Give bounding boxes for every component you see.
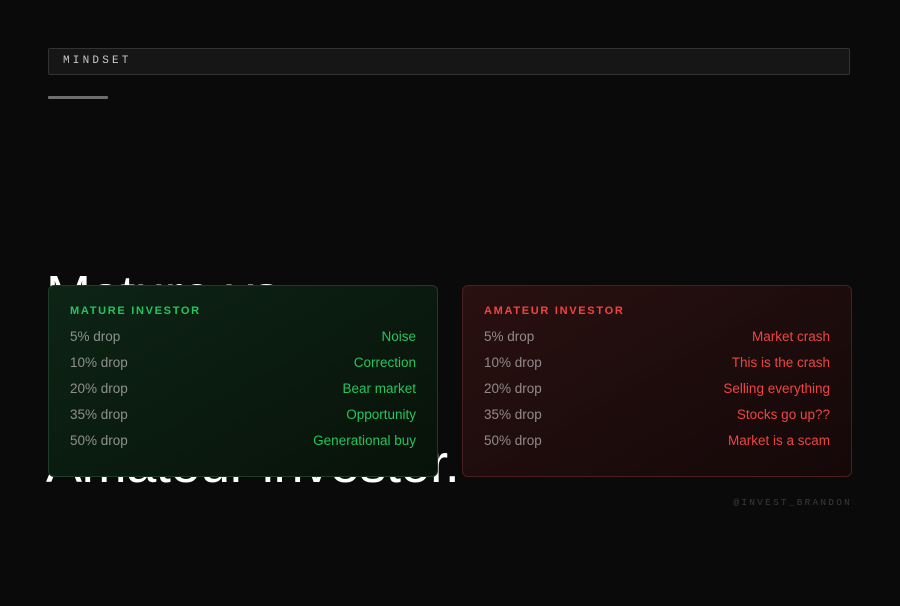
title-divider-rule [48,96,108,99]
row-value: Market is a scam [728,434,830,448]
table-row: 5% drop Market crash [484,330,830,356]
row-label: 10% drop [484,356,542,370]
row-value: Stocks go up?? [737,408,830,422]
table-row: 20% drop Selling everything [484,382,830,408]
row-label: 5% drop [484,330,534,344]
watermark-handle: @INVEST_BRANDON [733,497,852,508]
row-value: Noise [381,330,416,344]
row-label: 50% drop [484,434,542,448]
row-value: Bear market [342,382,416,396]
comparison-cards: MATURE INVESTOR 5% drop Noise 10% drop C… [48,285,852,477]
slide-canvas: MINDSET Mature vs Amateur investor. MATU… [0,0,900,528]
row-value: Opportunity [346,408,416,422]
table-row: 20% drop Bear market [70,382,416,408]
row-value: Correction [354,356,416,370]
card-title-amateur: AMATEUR INVESTOR [484,306,830,317]
row-label: 5% drop [70,330,120,344]
card-mature-investor: MATURE INVESTOR 5% drop Noise 10% drop C… [48,285,438,477]
card-rows-mature: 5% drop Noise 10% drop Correction 20% dr… [70,330,416,460]
row-label: 10% drop [70,356,128,370]
row-value: Generational buy [313,434,416,448]
card-rows-amateur: 5% drop Market crash 10% drop This is th… [484,330,830,460]
row-label: 20% drop [70,382,128,396]
row-value: Selling everything [723,382,830,396]
eyebrow-bar: MINDSET [48,48,850,75]
row-label: 35% drop [484,408,542,422]
table-row: 50% drop Market is a scam [484,434,830,460]
table-row: 10% drop Correction [70,356,416,382]
eyebrow-label: MINDSET [49,56,132,67]
table-row: 10% drop This is the crash [484,356,830,382]
row-label: 20% drop [484,382,542,396]
row-value: This is the crash [732,356,830,370]
card-title-mature: MATURE INVESTOR [70,306,416,317]
table-row: 5% drop Noise [70,330,416,356]
table-row: 50% drop Generational buy [70,434,416,460]
table-row: 35% drop Opportunity [70,408,416,434]
row-label: 35% drop [70,408,128,422]
row-label: 50% drop [70,434,128,448]
card-amateur-investor: AMATEUR INVESTOR 5% drop Market crash 10… [462,285,852,477]
table-row: 35% drop Stocks go up?? [484,408,830,434]
row-value: Market crash [752,330,830,344]
